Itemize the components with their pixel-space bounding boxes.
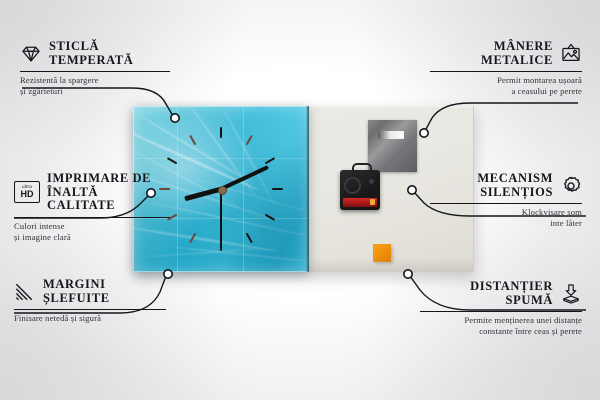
callout-title-line1: MECANISM xyxy=(477,172,553,186)
callout-sub-line1: Klockvisare som xyxy=(430,207,582,218)
callout-title-line1: IMPRIMARE DE xyxy=(47,172,170,186)
ultra-hd-icon: ultra HD xyxy=(14,181,40,203)
callout-title-line1: MÂNERE xyxy=(481,40,553,54)
glass-right-edge xyxy=(306,106,309,272)
clock-mechanism xyxy=(340,170,380,210)
callout-sub-line2: și zgârieturi xyxy=(20,86,170,97)
callout-title-line2: TEMPERATĂ xyxy=(49,54,133,68)
callout-rule xyxy=(14,309,166,310)
infographic-canvas: STICLĂ TEMPERATĂ Rezistentă la spargere … xyxy=(0,0,600,400)
callout-rule xyxy=(430,203,582,204)
callout-sub-line2: și imagine clară xyxy=(14,232,170,243)
callout-rule xyxy=(430,71,582,72)
hanger-slot xyxy=(378,131,404,139)
metal-hanger-bracket xyxy=(368,120,417,172)
callout-title-line2: ȘLEFUITE xyxy=(43,292,110,306)
callout-rule xyxy=(20,71,170,72)
callout-sub-line1: Permite menținerea unei distanțe xyxy=(420,315,582,326)
foam-spacer xyxy=(373,244,391,262)
callout-title-line1: MARGINI xyxy=(43,278,110,292)
callout-sticla-temperata: STICLĂ TEMPERATĂ Rezistentă la spargere … xyxy=(20,40,170,97)
gear-icon xyxy=(560,175,582,197)
polished-edges-icon xyxy=(14,281,36,303)
battery xyxy=(343,198,377,207)
callout-title-line2: ÎNALTĂ CALITATE xyxy=(47,186,170,213)
foam-spacer-icon xyxy=(560,283,582,305)
callout-title-line2: SILENȚIOS xyxy=(477,186,553,200)
callout-sub-line2: constante între ceas și perete xyxy=(420,326,582,337)
callout-sub-line2: a ceasului pe perete xyxy=(430,86,582,97)
callout-mecanism-silentios: MECANISM SILENȚIOS Klockvisare som inte … xyxy=(430,172,582,229)
callout-title-line1: DISTANȚIER xyxy=(470,280,553,294)
mechanism-shaft xyxy=(369,179,374,184)
callout-manere-metalice: MÂNERE METALICE Permit montarea ușoară a… xyxy=(430,40,582,97)
callout-distantier-spuma: DISTANȚIER SPUMĂ Permite menținerea unei… xyxy=(420,280,582,337)
callout-margini-slefuite: MARGINI ȘLEFUITE Finisare netedă și sigu… xyxy=(14,278,166,324)
callout-sub-line1: Permit montarea ușoară xyxy=(430,75,582,86)
callout-sub-line1: Rezistentă la spargere xyxy=(20,75,170,86)
mechanism-dial xyxy=(344,177,361,194)
callout-sub-line2: inte låter xyxy=(430,218,582,229)
product-image xyxy=(133,106,473,272)
picture-hanger-icon xyxy=(560,43,582,65)
callout-rule xyxy=(14,217,170,218)
callout-imprimare-inalta-calitate: ultra HD IMPRIMARE DE ÎNALTĂ CALITATE Cu… xyxy=(14,172,170,243)
callout-sub-line1: Finisare netedă și sigură xyxy=(14,313,166,324)
callout-title-line2: METALICE xyxy=(481,54,553,68)
mechanism-hanging-loop xyxy=(352,163,372,174)
callout-title-line2: SPUMĂ xyxy=(470,294,553,308)
ultra-hd-icon-main-label: HD xyxy=(21,190,34,199)
diamond-icon xyxy=(20,43,42,65)
callout-title-line1: STICLĂ xyxy=(49,40,133,54)
callout-rule xyxy=(420,311,582,312)
callout-sub-line1: Culori intense xyxy=(14,221,170,232)
